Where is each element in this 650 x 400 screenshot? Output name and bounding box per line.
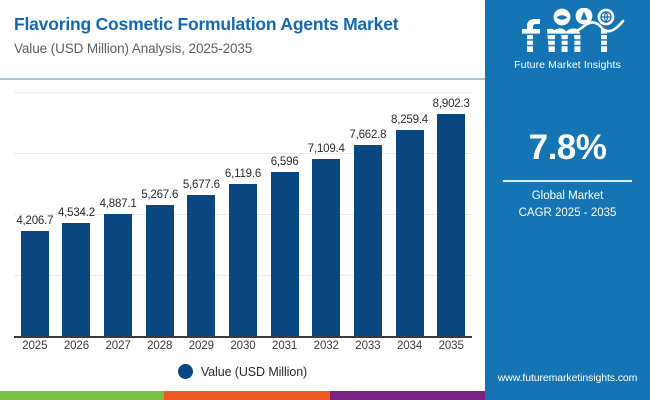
bar-column[interactable]: 6,596	[264, 92, 306, 336]
bar-column[interactable]: 7,662.8	[347, 92, 389, 336]
bar-2026[interactable]	[62, 223, 90, 336]
infographic-root: Flavoring Cosmetic Formulation Agents Ma…	[0, 0, 650, 400]
legend-label: Value (USD Million)	[201, 365, 307, 379]
chart-panel: Flavoring Cosmetic Formulation Agents Ma…	[0, 0, 485, 400]
cagr-value: 7.8%	[485, 128, 650, 168]
bar-value-label: 7,109.4	[308, 143, 345, 155]
x-tick-2027: 2027	[97, 340, 139, 352]
bar-2031[interactable]	[271, 172, 299, 336]
bar-column[interactable]: 7,109.4	[305, 92, 347, 336]
bar-value-label: 8,259.4	[391, 114, 428, 126]
x-tick-2029: 2029	[181, 340, 223, 352]
bar-2025[interactable]	[21, 231, 49, 336]
bar-2033[interactable]	[354, 145, 382, 336]
bar-value-label: 4,534.2	[58, 207, 95, 219]
x-axis-line	[14, 336, 472, 338]
bar-column[interactable]: 5,677.6	[181, 92, 223, 336]
x-tick-2030: 2030	[222, 340, 264, 352]
x-tick-2033: 2033	[347, 340, 389, 352]
stripe-segment-green	[0, 391, 164, 400]
bar-2028[interactable]	[146, 205, 174, 336]
bar-column[interactable]: 8,902.3	[430, 92, 472, 336]
chart-legend: Value (USD Million)	[0, 364, 485, 379]
fmi-logo-tagline: Future Market Insights	[485, 59, 650, 71]
bar-2030[interactable]	[229, 184, 257, 336]
stripe-segment-orange	[164, 391, 330, 400]
x-tick-2025: 2025	[14, 340, 56, 352]
bar-value-label: 5,267.6	[141, 189, 178, 201]
x-tick-2034: 2034	[389, 340, 431, 352]
x-axis-labels: 2025202620272028202920302031203220332034…	[14, 340, 472, 360]
bar-2029[interactable]	[187, 195, 215, 336]
x-tick-2028: 2028	[139, 340, 181, 352]
cagr-caption: Global Market CAGR 2025 - 2035	[485, 188, 650, 221]
website-url: www.futuremarketinsights.com	[485, 372, 650, 384]
bar-value-label: 4,887.1	[100, 198, 137, 210]
bar-column[interactable]: 4,534.2	[56, 92, 98, 336]
chart-header: Flavoring Cosmetic Formulation Agents Ma…	[0, 0, 485, 78]
x-tick-2032: 2032	[305, 340, 347, 352]
bar-2035[interactable]	[437, 114, 465, 336]
legend-swatch-icon	[178, 364, 193, 379]
stripe-segment-blue	[485, 391, 650, 400]
bar-column[interactable]: 5,267.6	[139, 92, 181, 336]
bar-2027[interactable]	[104, 214, 132, 336]
cagr-divider	[503, 180, 632, 182]
x-tick-2031: 2031	[264, 340, 306, 352]
page-title: Flavoring Cosmetic Formulation Agents Ma…	[14, 14, 485, 34]
bar-value-label: 6,119.6	[225, 168, 261, 180]
bar-column[interactable]: 4,206.7	[14, 92, 56, 336]
bar-value-label: 4,206.7	[16, 215, 53, 227]
bottom-color-stripe	[0, 391, 650, 400]
bar-2032[interactable]	[312, 159, 340, 336]
cagr-caption-line1: Global Market	[485, 188, 650, 205]
page-subtitle: Value (USD Million) Analysis, 2025-2035	[14, 41, 485, 56]
bar-value-label: 5,677.6	[183, 179, 220, 191]
brand-panel: Future Market Insights 7.8% Global Marke…	[485, 0, 650, 400]
bar-value-label: 6,596	[271, 156, 299, 168]
bar-series: 4,206.74,534.24,887.15,267.65,677.66,119…	[14, 92, 472, 336]
stripe-segment-purple	[330, 391, 485, 400]
fmi-logo: Future Market Insights	[485, 8, 650, 71]
bar-value-label: 7,662.8	[349, 129, 386, 141]
bar-value-label: 8,902.3	[433, 98, 470, 110]
bar-column[interactable]: 6,119.6	[222, 92, 264, 336]
x-tick-2035: 2035	[430, 340, 472, 352]
header-divider	[0, 78, 485, 80]
bar-2034[interactable]	[396, 130, 424, 336]
x-tick-2026: 2026	[56, 340, 98, 352]
fmi-logo-icon	[505, 8, 631, 56]
cagr-caption-line2: CAGR 2025 - 2035	[485, 205, 650, 222]
bar-column[interactable]: 4,887.1	[97, 92, 139, 336]
bar-column[interactable]: 8,259.4	[389, 92, 431, 336]
